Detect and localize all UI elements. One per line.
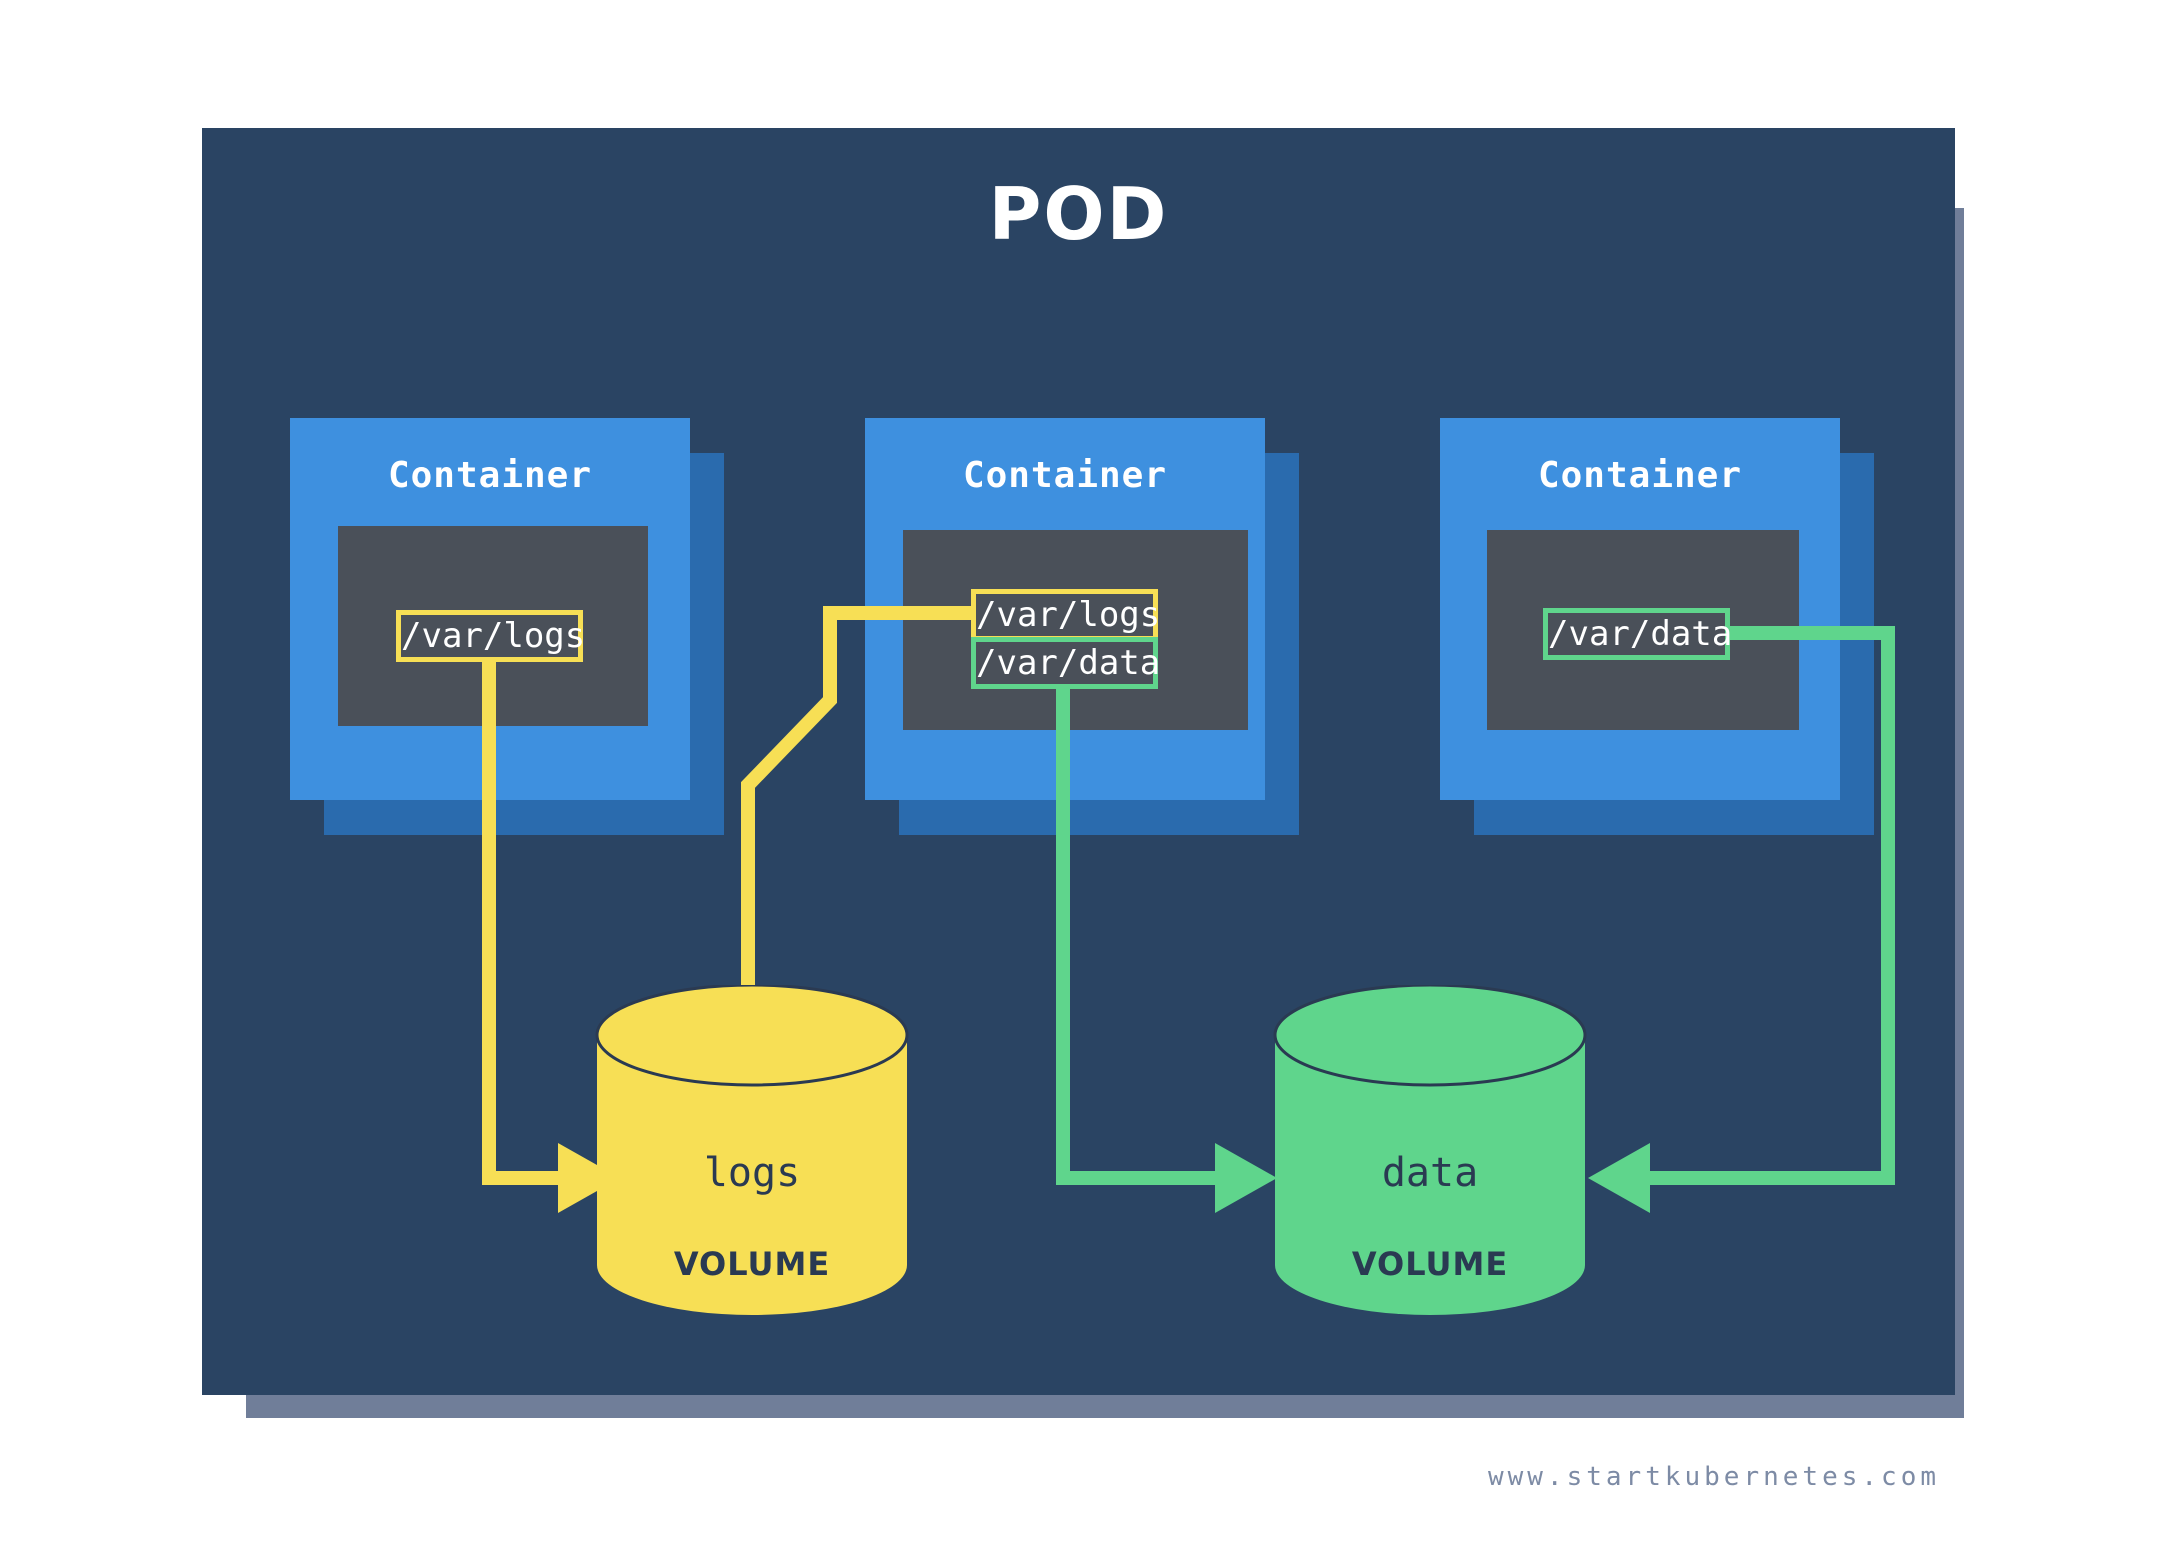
arrowhead-c3-data [1588,1143,1650,1213]
mount-label-c3-var-data[interactable]: /var/data [1543,608,1730,660]
volume-logs-tag: VOLUME [592,1245,912,1283]
volume-logs-name: logs [592,1150,912,1196]
mount-label-c2-var-logs[interactable]: /var/logs [971,589,1158,641]
mount-label-c1-var-logs[interactable]: /var/logs [396,610,583,662]
volume-data-tag: VOLUME [1270,1245,1590,1283]
volume-data-name: data [1270,1150,1590,1196]
edge-c2-data [1063,665,1222,1178]
edge-c1-logs [489,652,565,1178]
arrowhead-c2-data [1215,1143,1277,1213]
connector-lines [0,0,2158,1552]
diagram-canvas: POD Container Container Container /var/l… [0,0,2158,1552]
edge-c3-data [1643,633,1888,1178]
watermark-url: www.startkubernetes.com [1380,1462,1940,1492]
mount-label-c2-var-data[interactable]: /var/data [971,637,1158,689]
